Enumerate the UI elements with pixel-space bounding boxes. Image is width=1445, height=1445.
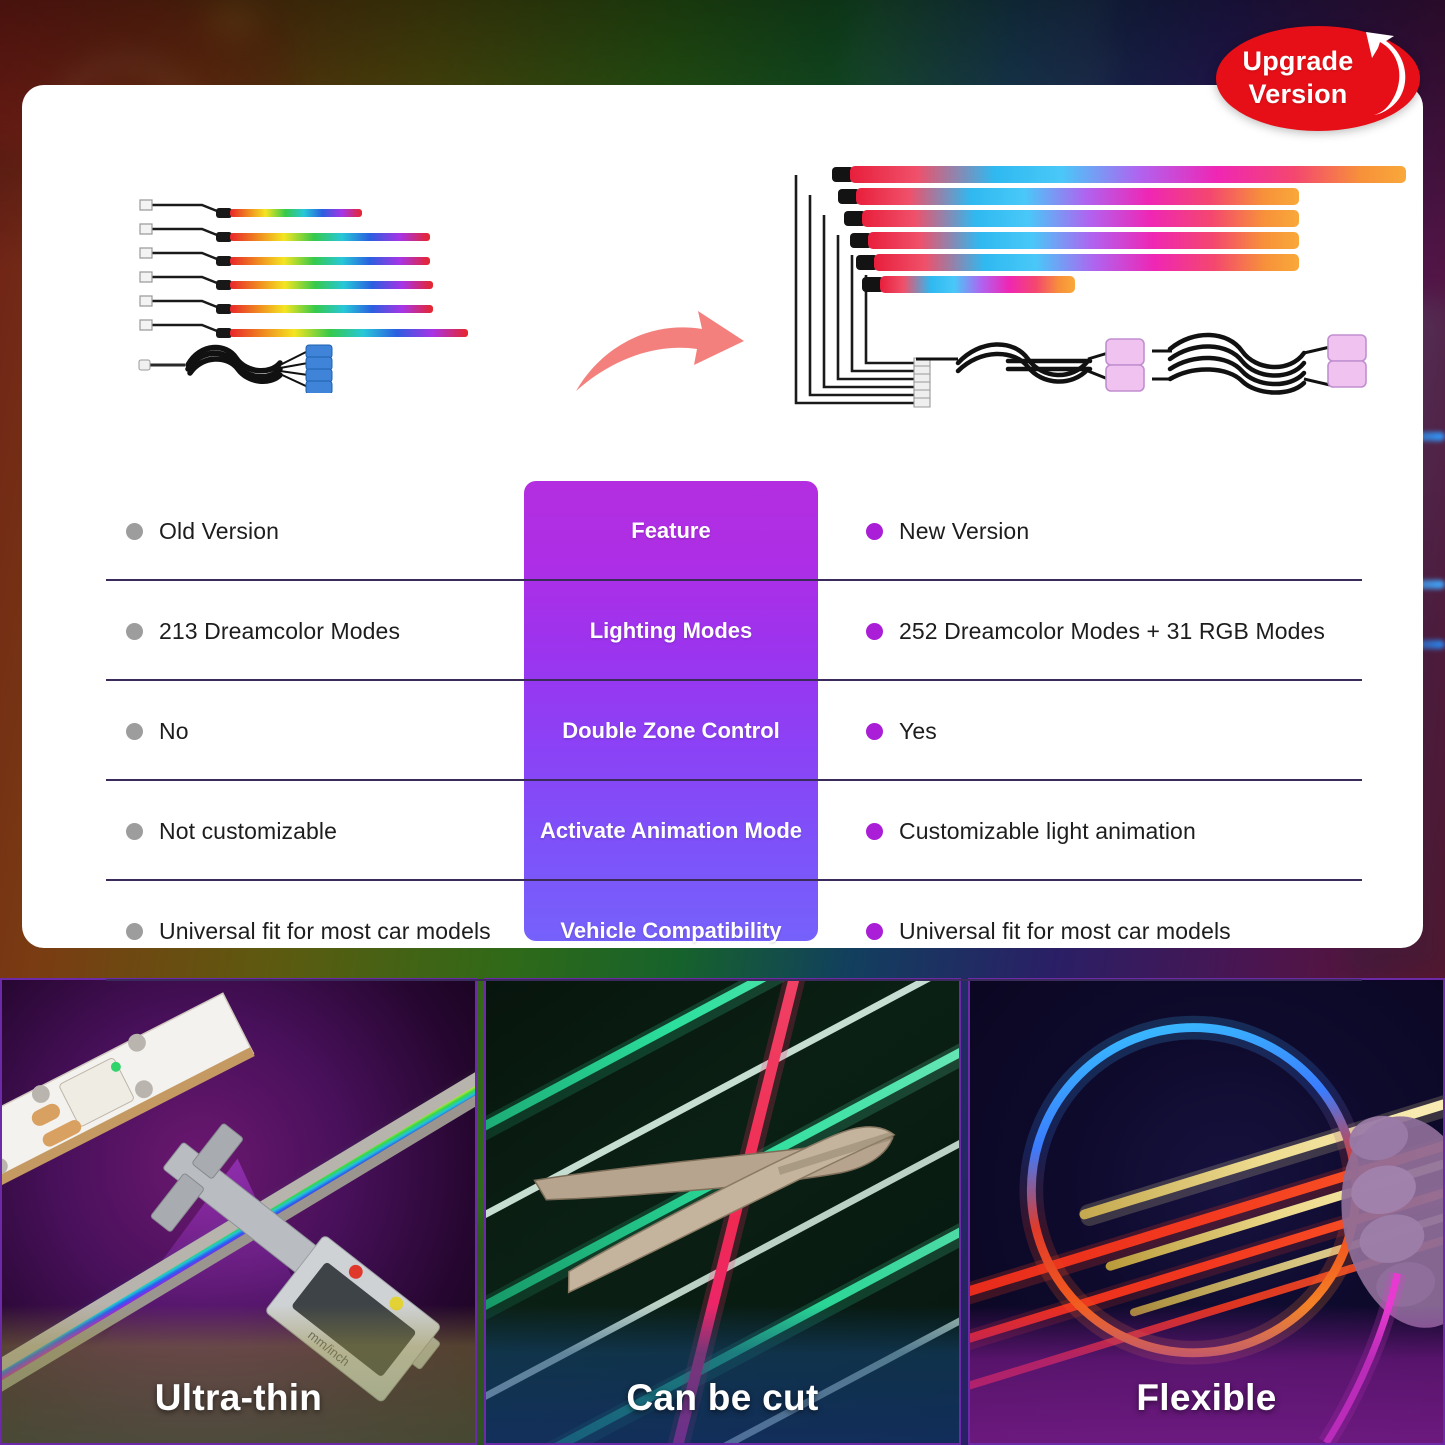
new-value-cell: Universal fit for most car models (844, 881, 1362, 981)
feature-name-cell: Activate Animation Mode (524, 781, 818, 881)
table-row: Not customizable Activate Animation Mode… (84, 781, 1362, 881)
old-value-cell: Universal fit for most car models (106, 881, 524, 981)
panel-bottom-veil (2, 1305, 475, 1443)
bullet-dot-old-icon (126, 823, 143, 840)
bullet-dot-new-icon (866, 823, 883, 840)
feature-name: Double Zone Control (562, 718, 780, 744)
new-value-cell: Yes (844, 681, 1362, 781)
panel-label: Ultra-thin (2, 1377, 475, 1419)
new-value: 252 Dreamcolor Modes + 31 RGB Modes (899, 618, 1325, 645)
new-value: Universal fit for most car models (899, 918, 1231, 945)
panel-bottom-veil (486, 1305, 959, 1443)
bullet-dot-old-icon (126, 723, 143, 740)
bullet-dot-new-icon (866, 923, 883, 940)
new-value-cell: 252 Dreamcolor Modes + 31 RGB Modes (844, 581, 1362, 681)
feature-name-cell: Double Zone Control (524, 681, 818, 781)
feature-name: Activate Animation Mode (540, 818, 802, 844)
old-value: No (159, 718, 189, 745)
old-value-cell: Not customizable (106, 781, 524, 881)
bullet-dot-new-icon (866, 723, 883, 740)
panel-ultra-thin: mm/inch Ultra-thin (0, 978, 477, 1445)
feature-label: Feature (631, 518, 710, 544)
badge-line-2: Version (1228, 78, 1368, 111)
table-row: 213 Dreamcolor Modes Lighting Modes 252 … (84, 581, 1362, 681)
panel-can-be-cut: Can be cut (484, 978, 961, 1445)
product-illustrations (22, 85, 1423, 485)
new-version-header-cell: New Version (844, 481, 1362, 581)
new-version-label: New Version (899, 518, 1029, 545)
comparison-table: Old Version Feature New Version 213 Drea… (84, 481, 1362, 941)
old-version-product-kit (130, 193, 490, 393)
panel-label: Flexible (970, 1377, 1443, 1419)
new-value: Yes (899, 718, 937, 745)
old-value: 213 Dreamcolor Modes (159, 618, 400, 645)
feature-name: Lighting Modes (590, 618, 753, 644)
upgrade-version-badge: Upgrade Version (1216, 26, 1420, 131)
bullet-dot-new-icon (866, 523, 883, 540)
old-value-cell: 213 Dreamcolor Modes (106, 581, 524, 681)
badge-line-1: Upgrade (1228, 45, 1368, 78)
old-version-label: Old Version (159, 518, 279, 545)
new-value-cell: Customizable light animation (844, 781, 1362, 881)
panel-flexible: Flexible (968, 978, 1445, 1445)
table-row: No Double Zone Control Yes (84, 681, 1362, 781)
feature-header-cell: Feature (524, 481, 818, 581)
curved-right-arrow-icon (570, 299, 750, 399)
old-version-cable (139, 345, 332, 393)
feature-name-cell: Lighting Modes (524, 581, 818, 681)
table-row: Universal fit for most car models Vehicl… (84, 881, 1362, 981)
feature-name: Vehicle Compatibility (560, 918, 781, 944)
panel-label: Can be cut (486, 1377, 959, 1419)
new-version-cables (916, 335, 1366, 393)
bullet-dot-new-icon (866, 623, 883, 640)
feature-name-cell: Vehicle Compatibility (524, 881, 818, 981)
bullet-dot-old-icon (126, 623, 143, 640)
panel-bottom-veil (970, 1305, 1443, 1443)
new-value: Customizable light animation (899, 818, 1196, 845)
bullet-dot-old-icon (126, 523, 143, 540)
comparison-card: Old Version Feature New Version 213 Drea… (22, 85, 1423, 948)
old-version-header-cell: Old Version (106, 481, 524, 581)
old-value: Universal fit for most car models (159, 918, 491, 945)
bullet-dot-old-icon (126, 923, 143, 940)
table-row-header: Old Version Feature New Version (84, 481, 1362, 581)
old-value: Not customizable (159, 818, 337, 845)
feature-panels: mm/inch Ultra-thin (0, 978, 1445, 1445)
badge-text: Upgrade Version (1228, 45, 1368, 111)
old-value-cell: No (106, 681, 524, 781)
new-version-product-kit (790, 153, 1415, 453)
